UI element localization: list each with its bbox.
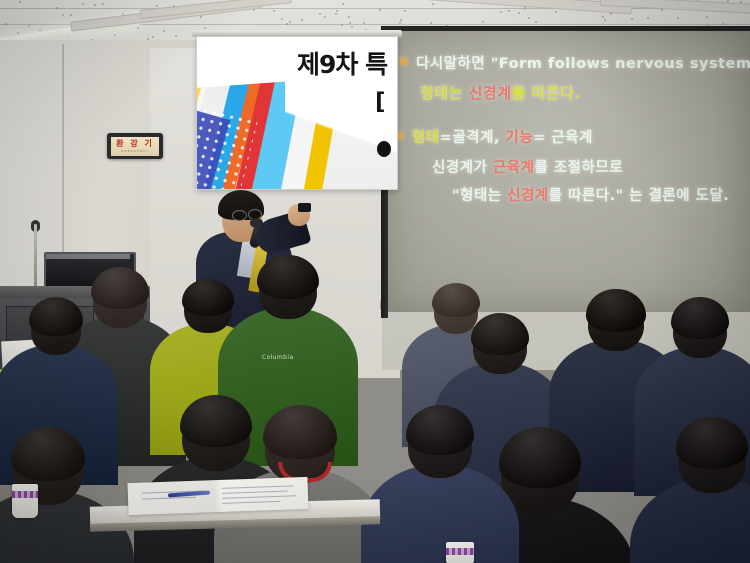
slide-segment-l1-0: 다시말하면 "Form follows nervous system."	[416, 56, 750, 72]
event-banner: 제9차 특 [	[196, 36, 398, 190]
attendee-navy-puffer-front	[440, 408, 441, 409]
attendee-grey-front-left	[48, 430, 49, 431]
slide-line-l4: 신경계가 근육계를 조절하므로	[432, 156, 623, 177]
slide-line-l2: 형태는 신경계를 따른다.	[420, 82, 581, 103]
slide-segment-l3-2: 기능	[505, 130, 533, 146]
slide-segment-l4-2: 를 조절하므로	[534, 160, 623, 176]
attendee-dark-right	[616, 292, 617, 293]
attendee-olive-jacket	[208, 282, 209, 283]
slide-line-l1: 다시말하면 "Form follows nervous system."	[416, 52, 750, 73]
paper-cup-right	[446, 542, 474, 563]
attendee-dark-right-hair	[586, 289, 645, 332]
slide-bullet-l1	[400, 58, 407, 65]
gooseneck-microphone	[34, 224, 37, 290]
slide-segment-l2-2: 를 따른다.	[512, 84, 581, 102]
attendee-olive-jacket-hair	[182, 279, 234, 316]
attendee-navy-vest-center	[500, 316, 501, 317]
slide-segment-l2-0: 형태는	[420, 84, 469, 102]
attendee-black-vest-front	[540, 430, 541, 431]
wall-sign-sublabel: EMERGENCY	[121, 149, 149, 153]
slide-segment-l5-0: "형태는	[452, 188, 507, 204]
jacket-brand-label: Columbia	[262, 354, 294, 361]
slide-segment-l2-1: 신경계	[469, 84, 512, 102]
lecture-hall-photo: 다시말하면 "Form follows nervous system."형태는 …	[0, 0, 750, 563]
slide-segment-l4-1: 근육계	[493, 160, 535, 176]
attendee-right-edge-front	[712, 420, 713, 421]
screen-top-frame	[381, 26, 750, 31]
slide-segment-l3-3: = 근육계	[533, 130, 593, 146]
laser-pointer	[298, 203, 311, 212]
banner-dot-mark	[377, 141, 391, 157]
slide-segment-l5-1: 신경계	[507, 188, 549, 204]
attendee-dark-puffer-left	[120, 270, 121, 271]
slide-line-l5: "형태는 신경계를 따른다." 는 결론에 도달.	[452, 184, 729, 205]
control-monitor-bezel	[46, 254, 130, 259]
slide-segment-l3-0: 형태	[412, 130, 440, 146]
speaker-glasses-left	[232, 210, 247, 221]
wall-sign-face: 환 강 기 EMERGENCY	[111, 137, 159, 156]
ceiling-light-3	[140, 0, 292, 19]
banner-title: 제9차 특	[297, 45, 387, 81]
attendee-grey-sweater-lanyard	[300, 408, 301, 409]
attendee-navy-left	[56, 300, 57, 301]
open-notebook	[127, 477, 308, 515]
attendee-balding-center-hair	[432, 283, 480, 317]
slide-line-l3: 형태=골격계, 기능= 근육계	[412, 126, 593, 147]
attendee-balding-center	[456, 286, 457, 287]
attendee-front-left	[216, 398, 217, 399]
attendee-green-columbia-jacket	[288, 258, 289, 259]
projection-screen: 다시말하면 "Form follows nervous system."형태는 …	[386, 30, 750, 312]
paper-cup-left	[12, 484, 38, 518]
attendee-far-right	[700, 300, 701, 301]
banner-subtitle: [	[375, 89, 386, 115]
attendee-green-columbia-jacket-hair	[257, 255, 318, 299]
slide-segment-l3-1: =골격계,	[440, 130, 506, 146]
slide-segment-l4-0: 신경계가	[432, 160, 493, 176]
wall-sign-label: 환 강 기	[116, 140, 154, 148]
wall-sign: 환 강 기 EMERGENCY	[107, 133, 163, 159]
slide-segment-l5-2: 를 따른다." 는 결론에 도달.	[549, 188, 730, 204]
